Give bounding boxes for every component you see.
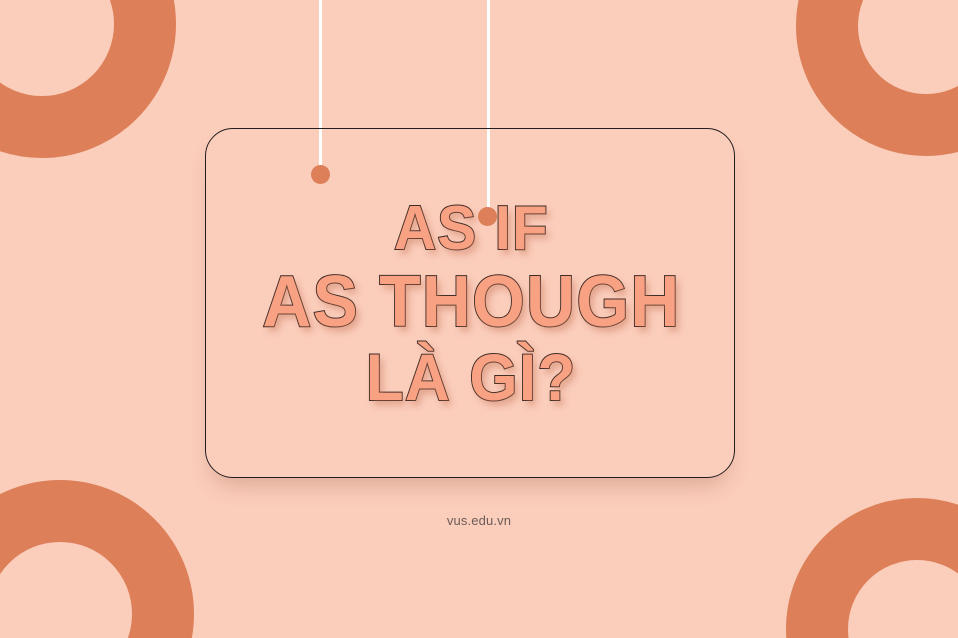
decor-ring-top-right-icon xyxy=(796,0,958,156)
headline-line-1: AS IF xyxy=(394,198,549,260)
headline-card: AS IF AS THOUGH LÀ GÌ? xyxy=(205,128,735,478)
site-url-label: vus.edu.vn xyxy=(0,513,958,528)
decor-ring-bottom-left-icon xyxy=(0,480,194,638)
headline-block: AS IF AS THOUGH LÀ GÌ? xyxy=(206,129,736,479)
headline-line-2: AS THOUGH xyxy=(262,266,680,338)
headline-line-3: LÀ GÌ? xyxy=(366,344,577,410)
poster-canvas: AS IF AS THOUGH LÀ GÌ? vus.edu.vn xyxy=(0,0,958,638)
decor-ring-top-left-icon xyxy=(0,0,176,158)
